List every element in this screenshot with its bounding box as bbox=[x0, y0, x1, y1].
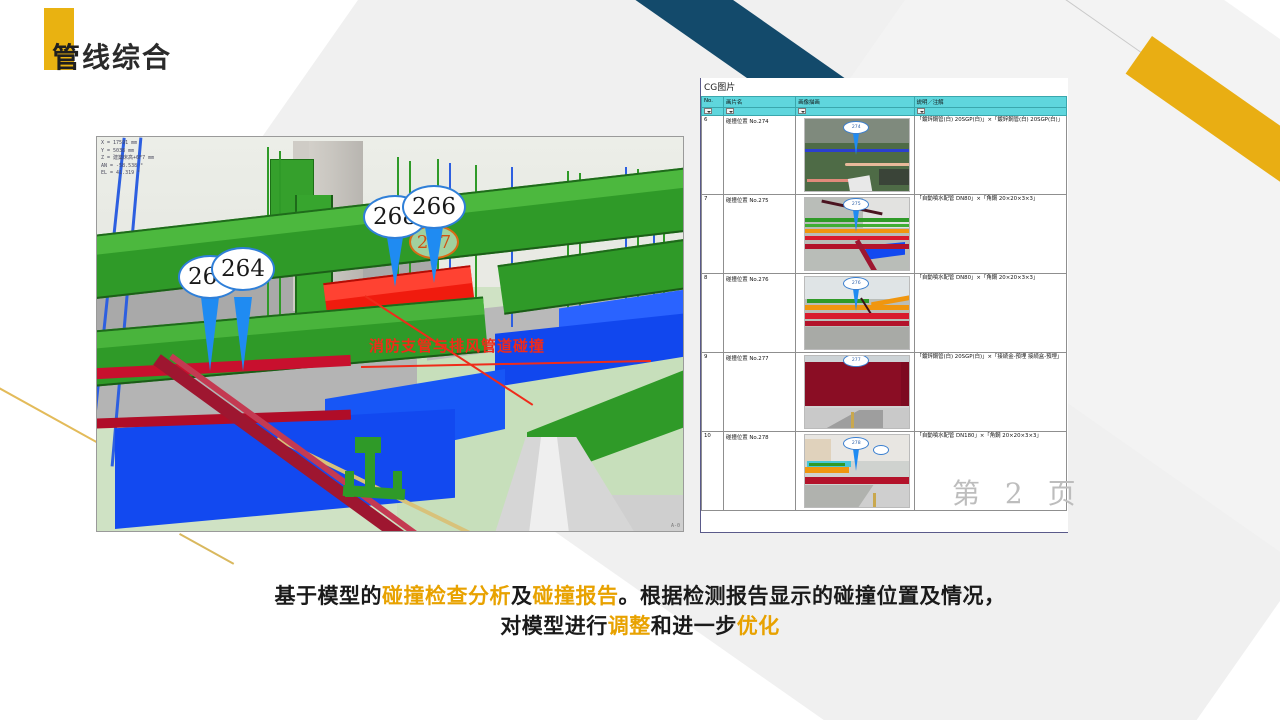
decor-gold-band bbox=[1126, 36, 1280, 223]
callout-needle-263 bbox=[201, 297, 219, 371]
table-body: 6 碰撞位置 No.274 274 「鍍鋅鋼管(白) 20S bbox=[702, 116, 1067, 511]
table-header: No. 画片名 画像描画 説明／注解 bbox=[702, 97, 1067, 116]
row-desc: 「自動噴水配管 DN80」×「角鋼 20×20×3×3」 bbox=[917, 196, 1064, 204]
table-row[interactable]: 6 碰撞位置 No.274 274 「鍍鋅鋼管(白) 20S bbox=[702, 116, 1067, 195]
table-filter-row bbox=[702, 108, 1067, 116]
thumb-274: 274 bbox=[804, 118, 910, 192]
thumb-callout-needle bbox=[853, 210, 859, 232]
caption-l1-c: 及 bbox=[511, 584, 533, 608]
page-title: 管线综合 bbox=[44, 8, 172, 72]
row-desc: 「自動噴水配管 DN80」×「角鋼 20×20×3×3」 bbox=[917, 275, 1064, 283]
row-desc-cell: 「鍍鋅鋼管(白) 20SGP(白)」×「接続金-預埋 接続盒-預埋」 bbox=[914, 353, 1066, 432]
caption-l2-a: 对模型进行 bbox=[500, 614, 608, 638]
row-desc: 「鍍鋅鋼管(白) 20SGP(白)」×「接続金-預埋 接続盒-預埋」 bbox=[917, 354, 1064, 362]
caption-l1-a: 基于模型的 bbox=[275, 584, 383, 608]
caption-l1-highlight-1: 碰撞检查分析 bbox=[382, 584, 511, 608]
filter-dropdown-icon[interactable] bbox=[917, 108, 925, 114]
title-badge-char: 管 bbox=[52, 41, 82, 74]
caption-l1-e: 。根据检测报告显示的碰撞位置及情况， bbox=[619, 584, 1006, 608]
row-thumbnail-cell[interactable]: 278 bbox=[796, 432, 914, 511]
filter-cell-image[interactable] bbox=[796, 108, 914, 116]
row-name: 碰撞位置 No.275 bbox=[724, 195, 796, 274]
filter-cell-desc[interactable] bbox=[914, 108, 1066, 116]
col-header-desc[interactable]: 説明／注解 bbox=[914, 97, 1066, 108]
viewport-corner-label: A-0 bbox=[671, 523, 680, 529]
row-thumbnail-cell[interactable]: 274 bbox=[796, 116, 914, 195]
row-name: 碰撞位置 No.277 bbox=[724, 353, 796, 432]
table-row[interactable]: 8 碰撞位置 No.276 276 bbox=[702, 274, 1067, 353]
collision-report-panel[interactable]: CG图片 No. 画片名 画像描画 説明／注解 6 bbox=[700, 78, 1068, 533]
table-header-row: No. 画片名 画像描画 説明／注解 bbox=[702, 97, 1067, 108]
caption-l2-c: 和进一步 bbox=[651, 614, 737, 638]
thumb-275: 275 bbox=[804, 197, 910, 271]
thumb-callout-needle bbox=[853, 449, 859, 471]
thumb-callout-needle bbox=[853, 133, 859, 155]
caption-l1-highlight-2: 碰撞报告 bbox=[533, 584, 619, 608]
row-name: 碰撞位置 No.278 bbox=[724, 432, 796, 511]
table-row[interactable]: 9 碰撞位置 No.277 277 「鍍鋅鋼管(白) 20SGP(白)」×「接続… bbox=[702, 353, 1067, 432]
row-thumbnail-cell[interactable]: 276 bbox=[796, 274, 914, 353]
row-name: 碰撞位置 No.274 bbox=[724, 116, 796, 195]
callout-needle-266 bbox=[425, 227, 443, 283]
caption-line-1: 基于模型的碰撞检查分析及碰撞报告。根据检测报告显示的碰撞位置及情况， bbox=[0, 582, 1280, 612]
row-no: 10 bbox=[702, 432, 724, 511]
filter-dropdown-icon[interactable] bbox=[726, 108, 734, 114]
viewport-hud-readout: X = 17591 mm Y = 5038 mm Z = 建築床高+6F7 mm… bbox=[101, 140, 154, 178]
pipe-hanger-support bbox=[343, 437, 405, 507]
row-name: 碰撞位置 No.276 bbox=[724, 274, 796, 353]
filter-dropdown-icon[interactable] bbox=[798, 108, 806, 114]
col-header-image[interactable]: 画像描画 bbox=[796, 97, 914, 108]
thumb-277: 277 bbox=[804, 355, 910, 429]
table-row[interactable]: 7 碰撞位置 No.275 275 bbox=[702, 195, 1067, 274]
row-desc-cell: 「鍍鋅鋼管(白) 20SGP(白)」×「鍍鋅鋼管(白) 20SGP(白)」 bbox=[914, 116, 1066, 195]
caption-line-2: 对模型进行调整和进一步优化 bbox=[0, 612, 1280, 642]
row-no: 7 bbox=[702, 195, 724, 274]
row-no: 8 bbox=[702, 274, 724, 353]
caption-l2-highlight-1: 调整 bbox=[608, 614, 651, 638]
col-header-no[interactable]: No. bbox=[702, 97, 724, 108]
collision-report-table: No. 画片名 画像描画 説明／注解 6 碰撞位置 No.274 bbox=[701, 96, 1067, 511]
bim-3d-viewport[interactable]: 263 264 268 266 267 消防支管与排风管道碰撞 X = 1759… bbox=[96, 136, 684, 532]
filter-cell-no[interactable] bbox=[702, 108, 724, 116]
row-desc-cell: 「自動噴水配管 DN80」×「角鋼 20×20×3×3」 bbox=[914, 195, 1066, 274]
caption-l2-highlight-2: 优化 bbox=[737, 614, 780, 638]
row-desc-cell: 「自動噴水配管 DN80」×「角鋼 20×20×3×3」 bbox=[914, 274, 1066, 353]
row-thumbnail-cell[interactable]: 275 bbox=[796, 195, 914, 274]
callout-needle-268 bbox=[386, 231, 404, 287]
col-header-name[interactable]: 画片名 bbox=[724, 97, 796, 108]
callout-balloon-264[interactable]: 264 bbox=[211, 247, 275, 291]
thumb-278: 278 bbox=[804, 434, 910, 508]
title-rest: 线综合 bbox=[82, 41, 172, 74]
annotation-text: 消防支管与排风管道碰撞 bbox=[369, 335, 545, 356]
row-thumbnail-cell[interactable]: 277 bbox=[796, 353, 914, 432]
callout-needle-264 bbox=[234, 297, 252, 371]
filter-dropdown-icon[interactable] bbox=[704, 108, 712, 114]
callout-balloon-266[interactable]: 266 bbox=[402, 185, 466, 229]
row-desc: 「鍍鋅鋼管(白) 20SGP(白)」×「鍍鋅鋼管(白) 20SGP(白)」 bbox=[917, 117, 1064, 125]
row-no: 9 bbox=[702, 353, 724, 432]
row-no: 6 bbox=[702, 116, 724, 195]
filter-cell-name[interactable] bbox=[724, 108, 796, 116]
report-title: CG图片 bbox=[701, 78, 1068, 96]
row-desc: 「自動噴水配管 DN180」×「角鋼 20×20×3×3」 bbox=[917, 433, 1064, 441]
decor-gold-line-left-2 bbox=[179, 533, 234, 565]
title-text: 管线综合 bbox=[44, 8, 172, 72]
page-number-watermark: 第 2 页 bbox=[952, 472, 1084, 512]
slide-caption: 基于模型的碰撞检查分析及碰撞报告。根据检测报告显示的碰撞位置及情况， 对模型进行… bbox=[0, 582, 1280, 642]
thumb-callout-needle bbox=[853, 289, 859, 311]
thumb-276: 276 bbox=[804, 276, 910, 350]
slide-root: 管线综合 bbox=[0, 0, 1280, 720]
